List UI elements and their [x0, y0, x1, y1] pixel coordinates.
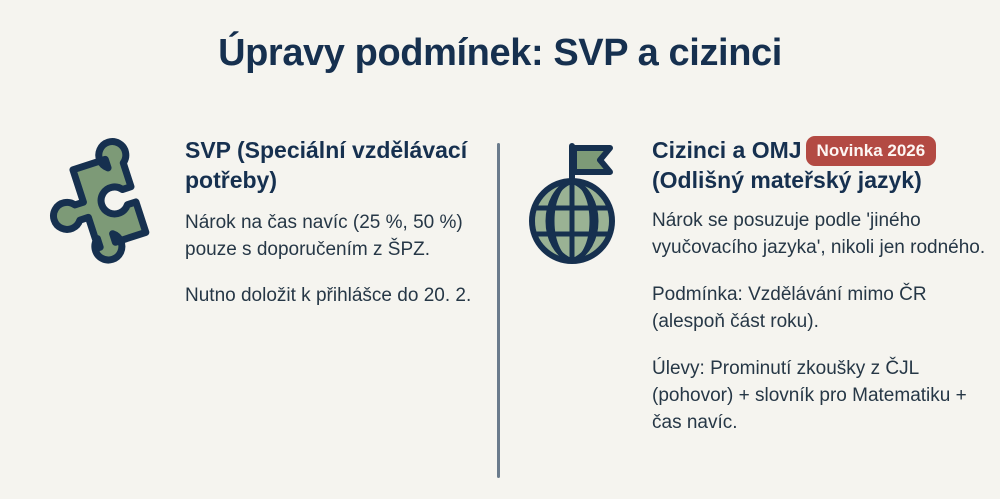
- page-title: Úpravy podmínek: SVP a cizinci: [0, 30, 1000, 78]
- columns-container: SVP (Speciální vzdělávací potřeby) Nárok…: [0, 130, 1000, 499]
- infographic-slide: Úpravy podmínek: SVP a cizinci SVP (Spec…: [0, 0, 1000, 499]
- column-svp-body: SVP (Speciální vzdělávací potřeby) Nárok…: [185, 130, 505, 310]
- globe-flag-icon: [512, 138, 642, 268]
- column-svp-heading: SVP (Speciální vzdělávací potřeby): [185, 130, 505, 196]
- column-cizinci-heading-line2: (Odlišný mateřský jazyk): [652, 167, 922, 193]
- column-cizinci-paragraph-1: Nárok se posuzuje podle 'jiného vyučovac…: [652, 208, 992, 262]
- column-svp: SVP (Speciální vzdělávací potřeby) Nárok…: [45, 130, 505, 499]
- puzzle-piece-icon: [45, 138, 175, 268]
- column-cizinci-paragraph-3: Úlevy: Prominutí zkoušky z ČJL (pohovor)…: [652, 356, 992, 437]
- column-cizinci-body: Cizinci a OMJNovinka 2026(Odlišný mateřs…: [652, 130, 992, 457]
- column-cizinci: Cizinci a OMJNovinka 2026(Odlišný mateřs…: [512, 130, 972, 499]
- status-badge: Novinka 2026: [806, 136, 937, 166]
- column-cizinci-heading: Cizinci a OMJNovinka 2026(Odlišný mateřs…: [652, 130, 992, 196]
- column-cizinci-paragraph-2: Podmínka: Vzdělávání mimo ČR (alespoň čá…: [652, 282, 992, 336]
- column-svp-paragraph-2: Nutno doložit k přihlášce do 20. 2.: [185, 283, 505, 310]
- column-svp-paragraph-1: Nárok na čas navíc (25 %, 50 %) pouze s …: [185, 210, 505, 264]
- column-cizinci-heading-line1: Cizinci a OMJ: [652, 137, 802, 163]
